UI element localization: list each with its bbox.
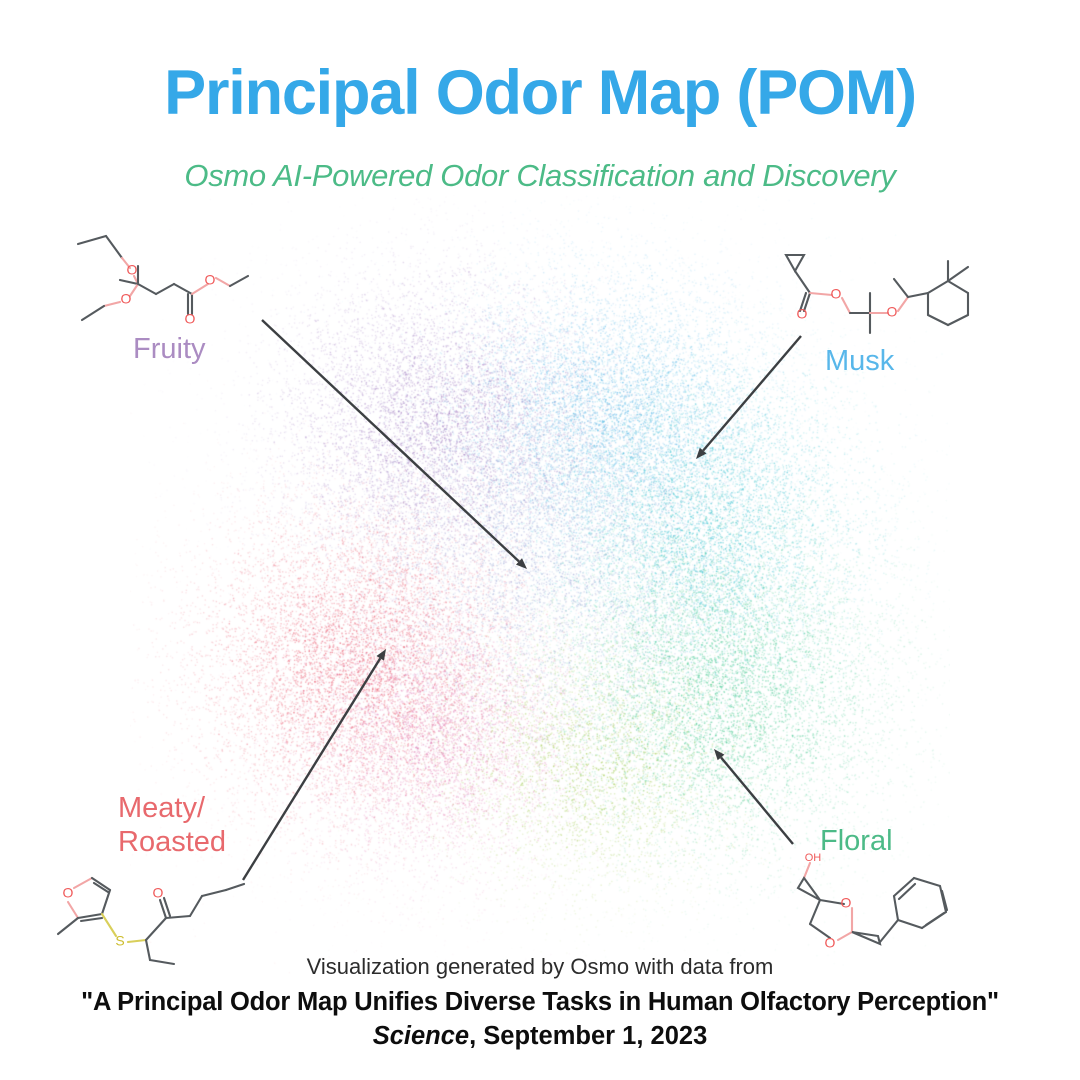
floral-molecule-structure: OH O O bbox=[768, 846, 998, 956]
meaty-roasted-molecule-structure: O S O bbox=[34, 862, 259, 967]
svg-text:OH: OH bbox=[805, 852, 822, 864]
svg-text:S: S bbox=[115, 933, 124, 949]
svg-text:O: O bbox=[185, 311, 196, 327]
svg-text:O: O bbox=[797, 306, 808, 322]
cluster-label-fruity: Fruity bbox=[133, 332, 206, 366]
publication-date: , September 1, 2023 bbox=[469, 1022, 707, 1050]
svg-text:O: O bbox=[121, 291, 132, 307]
journal-name: Science bbox=[373, 1022, 469, 1050]
svg-text:O: O bbox=[825, 935, 836, 951]
arrow-line-musk bbox=[703, 336, 801, 451]
svg-text:O: O bbox=[831, 286, 842, 302]
svg-text:O: O bbox=[63, 885, 74, 901]
musk-molecule-structure: O O O bbox=[762, 245, 1002, 350]
svg-text:O: O bbox=[887, 304, 898, 320]
svg-text:O: O bbox=[841, 895, 852, 911]
caption-line-2: "A Principal Odor Map Unifies Diverse Ta… bbox=[0, 988, 1080, 1017]
cluster-label-meaty-roasted: Meaty/ Roasted bbox=[118, 791, 226, 859]
svg-text:O: O bbox=[127, 262, 138, 278]
arrow-line-floral bbox=[721, 757, 793, 844]
fruity-molecule-structure: O O O O bbox=[60, 232, 270, 337]
svg-text:O: O bbox=[205, 272, 216, 288]
arrow-line-fruity bbox=[262, 320, 519, 561]
svg-text:O: O bbox=[153, 885, 164, 901]
caption-line-1: Visualization generated by Osmo with dat… bbox=[0, 954, 1080, 980]
arrow-head-meaty-roasted bbox=[376, 649, 386, 661]
arrow-line-meaty-roasted bbox=[243, 658, 380, 880]
poster-canvas: Principal Odor Map (POM) Osmo AI-Powered… bbox=[0, 0, 1080, 1080]
caption-line-3: Science, September 1, 2023 bbox=[0, 1022, 1080, 1051]
